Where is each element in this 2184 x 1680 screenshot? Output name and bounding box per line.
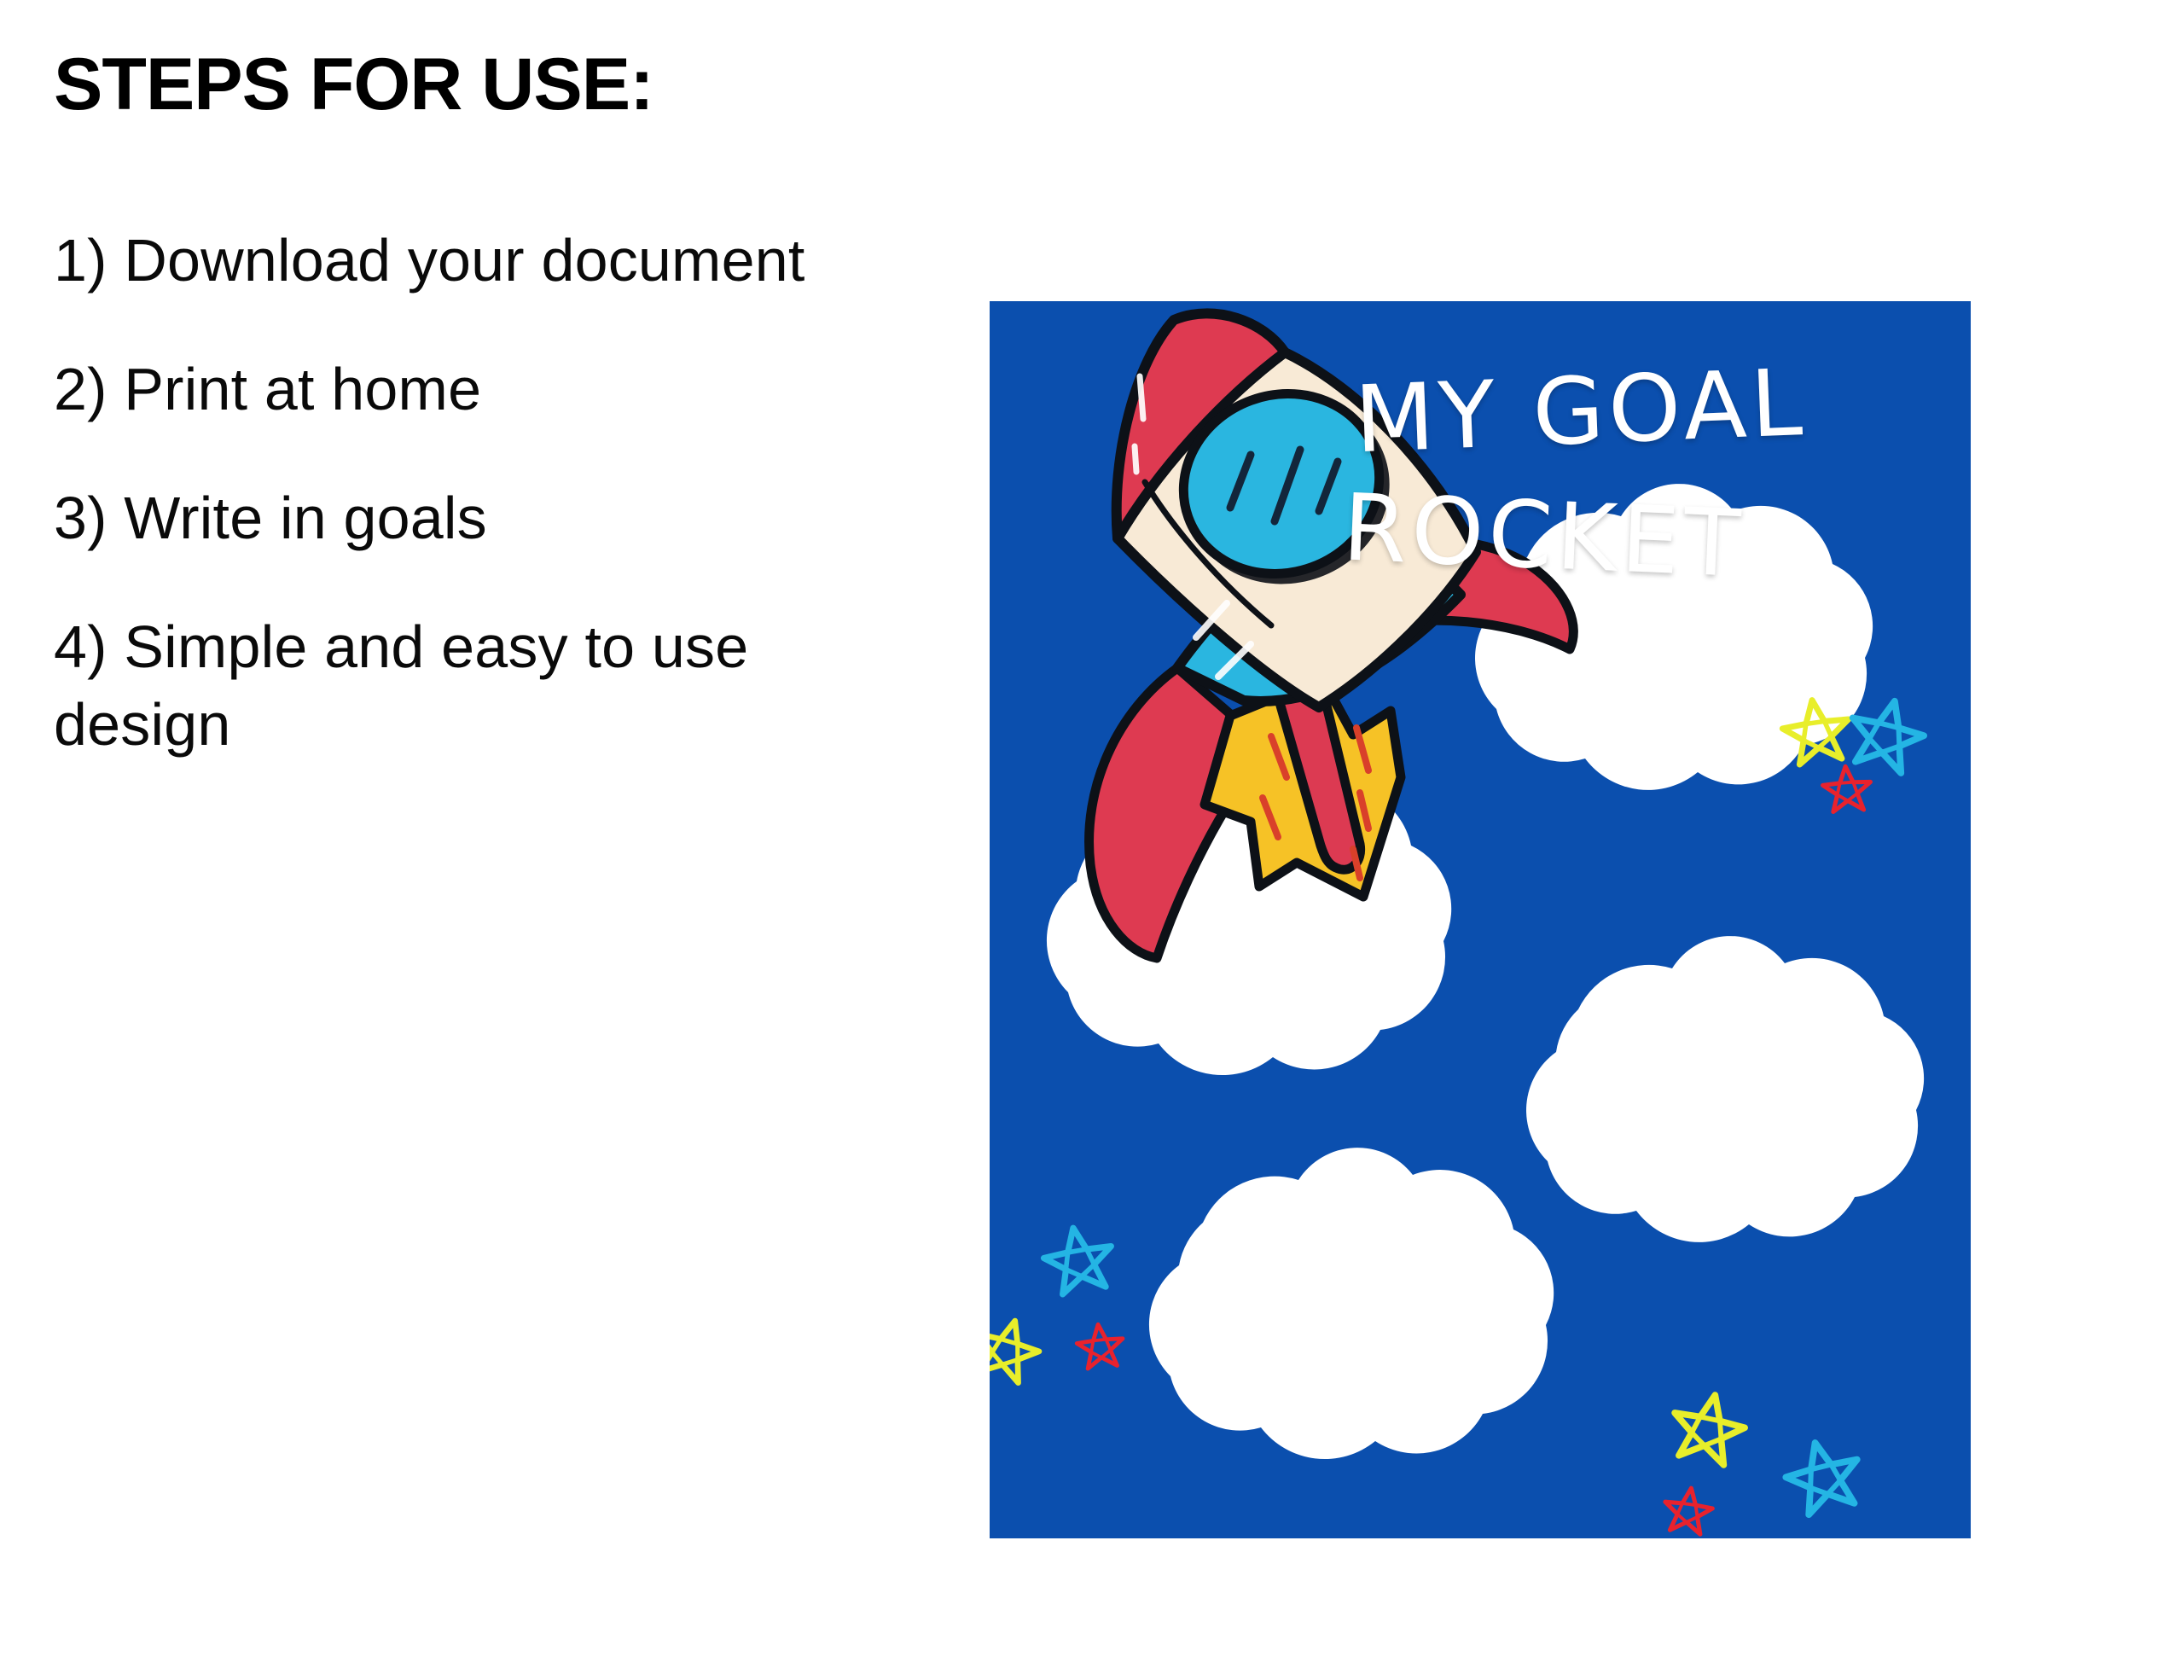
page-title: STEPS FOR USE: — [54, 48, 921, 121]
poster-artwork — [990, 301, 1971, 1538]
list-item: 1) Download your document — [54, 222, 822, 299]
goal-rocket-poster: MY GOAL ROCKET — [990, 301, 1971, 1538]
list-item: 3) Write in goals — [54, 480, 822, 557]
list-item: 4) Simple and easy to use design — [54, 608, 822, 764]
steps-for-use-panel: STEPS FOR USE: 1) Download your document… — [51, 48, 921, 1328]
slide-canvas: STEPS FOR USE: 1) Download your document… — [0, 0, 2184, 1680]
steps-list: 1) Download your document 2) Print at ho… — [51, 222, 921, 764]
list-item: 2) Print at home — [54, 351, 822, 428]
